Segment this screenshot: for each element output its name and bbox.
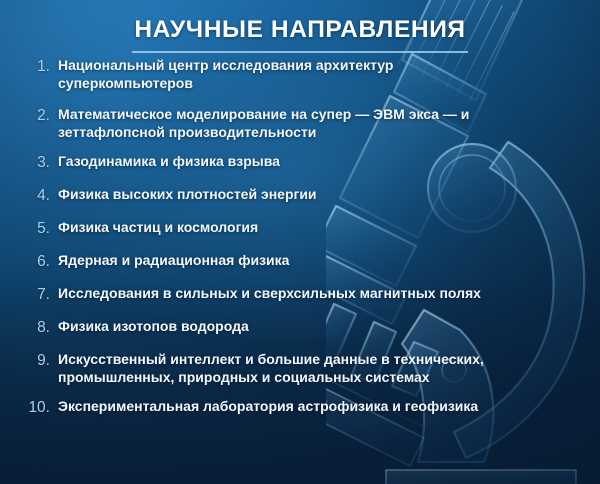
list-item[interactable]: 2. Математическое моделирование на супер… bbox=[0, 106, 600, 141]
list-item-number: 6. bbox=[24, 252, 50, 271]
list-item-text: Национальный центр исследования архитект… bbox=[58, 57, 528, 92]
list-item-number: 3. bbox=[24, 153, 50, 172]
list-item-number: 9. bbox=[24, 351, 50, 370]
slide-content: НАУЧНЫЕ НАПРАВЛЕНИЯ 1. Национальный цент… bbox=[0, 0, 600, 484]
list-item[interactable]: 10. Экспериментальная лаборатория астроф… bbox=[0, 398, 600, 417]
list-item-number: 5. bbox=[24, 219, 50, 238]
list-item-text: Физика высоких плотностей энергии bbox=[58, 186, 528, 204]
list-item-number: 1. bbox=[24, 57, 50, 76]
list-item[interactable]: 9. Искусственный интеллект и большие дан… bbox=[0, 351, 600, 386]
list-item[interactable]: 7. Исследования в сильных и сверхсильных… bbox=[0, 285, 600, 304]
list-item[interactable]: 5. Физика частиц и космология bbox=[0, 219, 600, 238]
slide-canvas: НАУЧНЫЕ НАПРАВЛЕНИЯ 1. Национальный цент… bbox=[0, 0, 600, 484]
title-container: НАУЧНЫЕ НАПРАВЛЕНИЯ bbox=[0, 17, 600, 53]
list-item-number: 4. bbox=[24, 186, 50, 205]
list-item-text: Физика частиц и космология bbox=[58, 219, 528, 237]
list-item[interactable]: 4. Физика высоких плотностей энергии bbox=[0, 186, 600, 205]
list-item[interactable]: 1. Национальный центр исследования архит… bbox=[0, 57, 600, 92]
list-item-text: Газодинамика и физика взрыва bbox=[58, 153, 528, 171]
list-item-number: 8. bbox=[24, 318, 50, 337]
list-item-text: Искусственный интеллект и большие данные… bbox=[58, 351, 528, 386]
list-item-text: Ядерная и радиационная физика bbox=[58, 252, 528, 270]
page-title: НАУЧНЫЕ НАПРАВЛЕНИЯ bbox=[132, 17, 467, 53]
list-item-text: Математическое моделирование на супер — … bbox=[58, 106, 528, 141]
list-item-text: Экспериментальная лаборатория астрофизик… bbox=[58, 398, 528, 416]
list-item[interactable]: 3. Газодинамика и физика взрыва bbox=[0, 153, 600, 172]
list-item-number: 2. bbox=[24, 106, 50, 125]
list-item-number: 10. bbox=[24, 398, 50, 417]
list-item-number: 7. bbox=[24, 285, 50, 304]
list-item-text: Физика изотопов водорода bbox=[58, 318, 528, 336]
list-item-text: Исследования в сильных и сверхсильных ма… bbox=[58, 285, 528, 303]
list-item[interactable]: 6. Ядерная и радиационная физика bbox=[0, 252, 600, 271]
research-directions-list: 1. Национальный центр исследования архит… bbox=[0, 57, 600, 431]
list-item[interactable]: 8. Физика изотопов водорода bbox=[0, 318, 600, 337]
